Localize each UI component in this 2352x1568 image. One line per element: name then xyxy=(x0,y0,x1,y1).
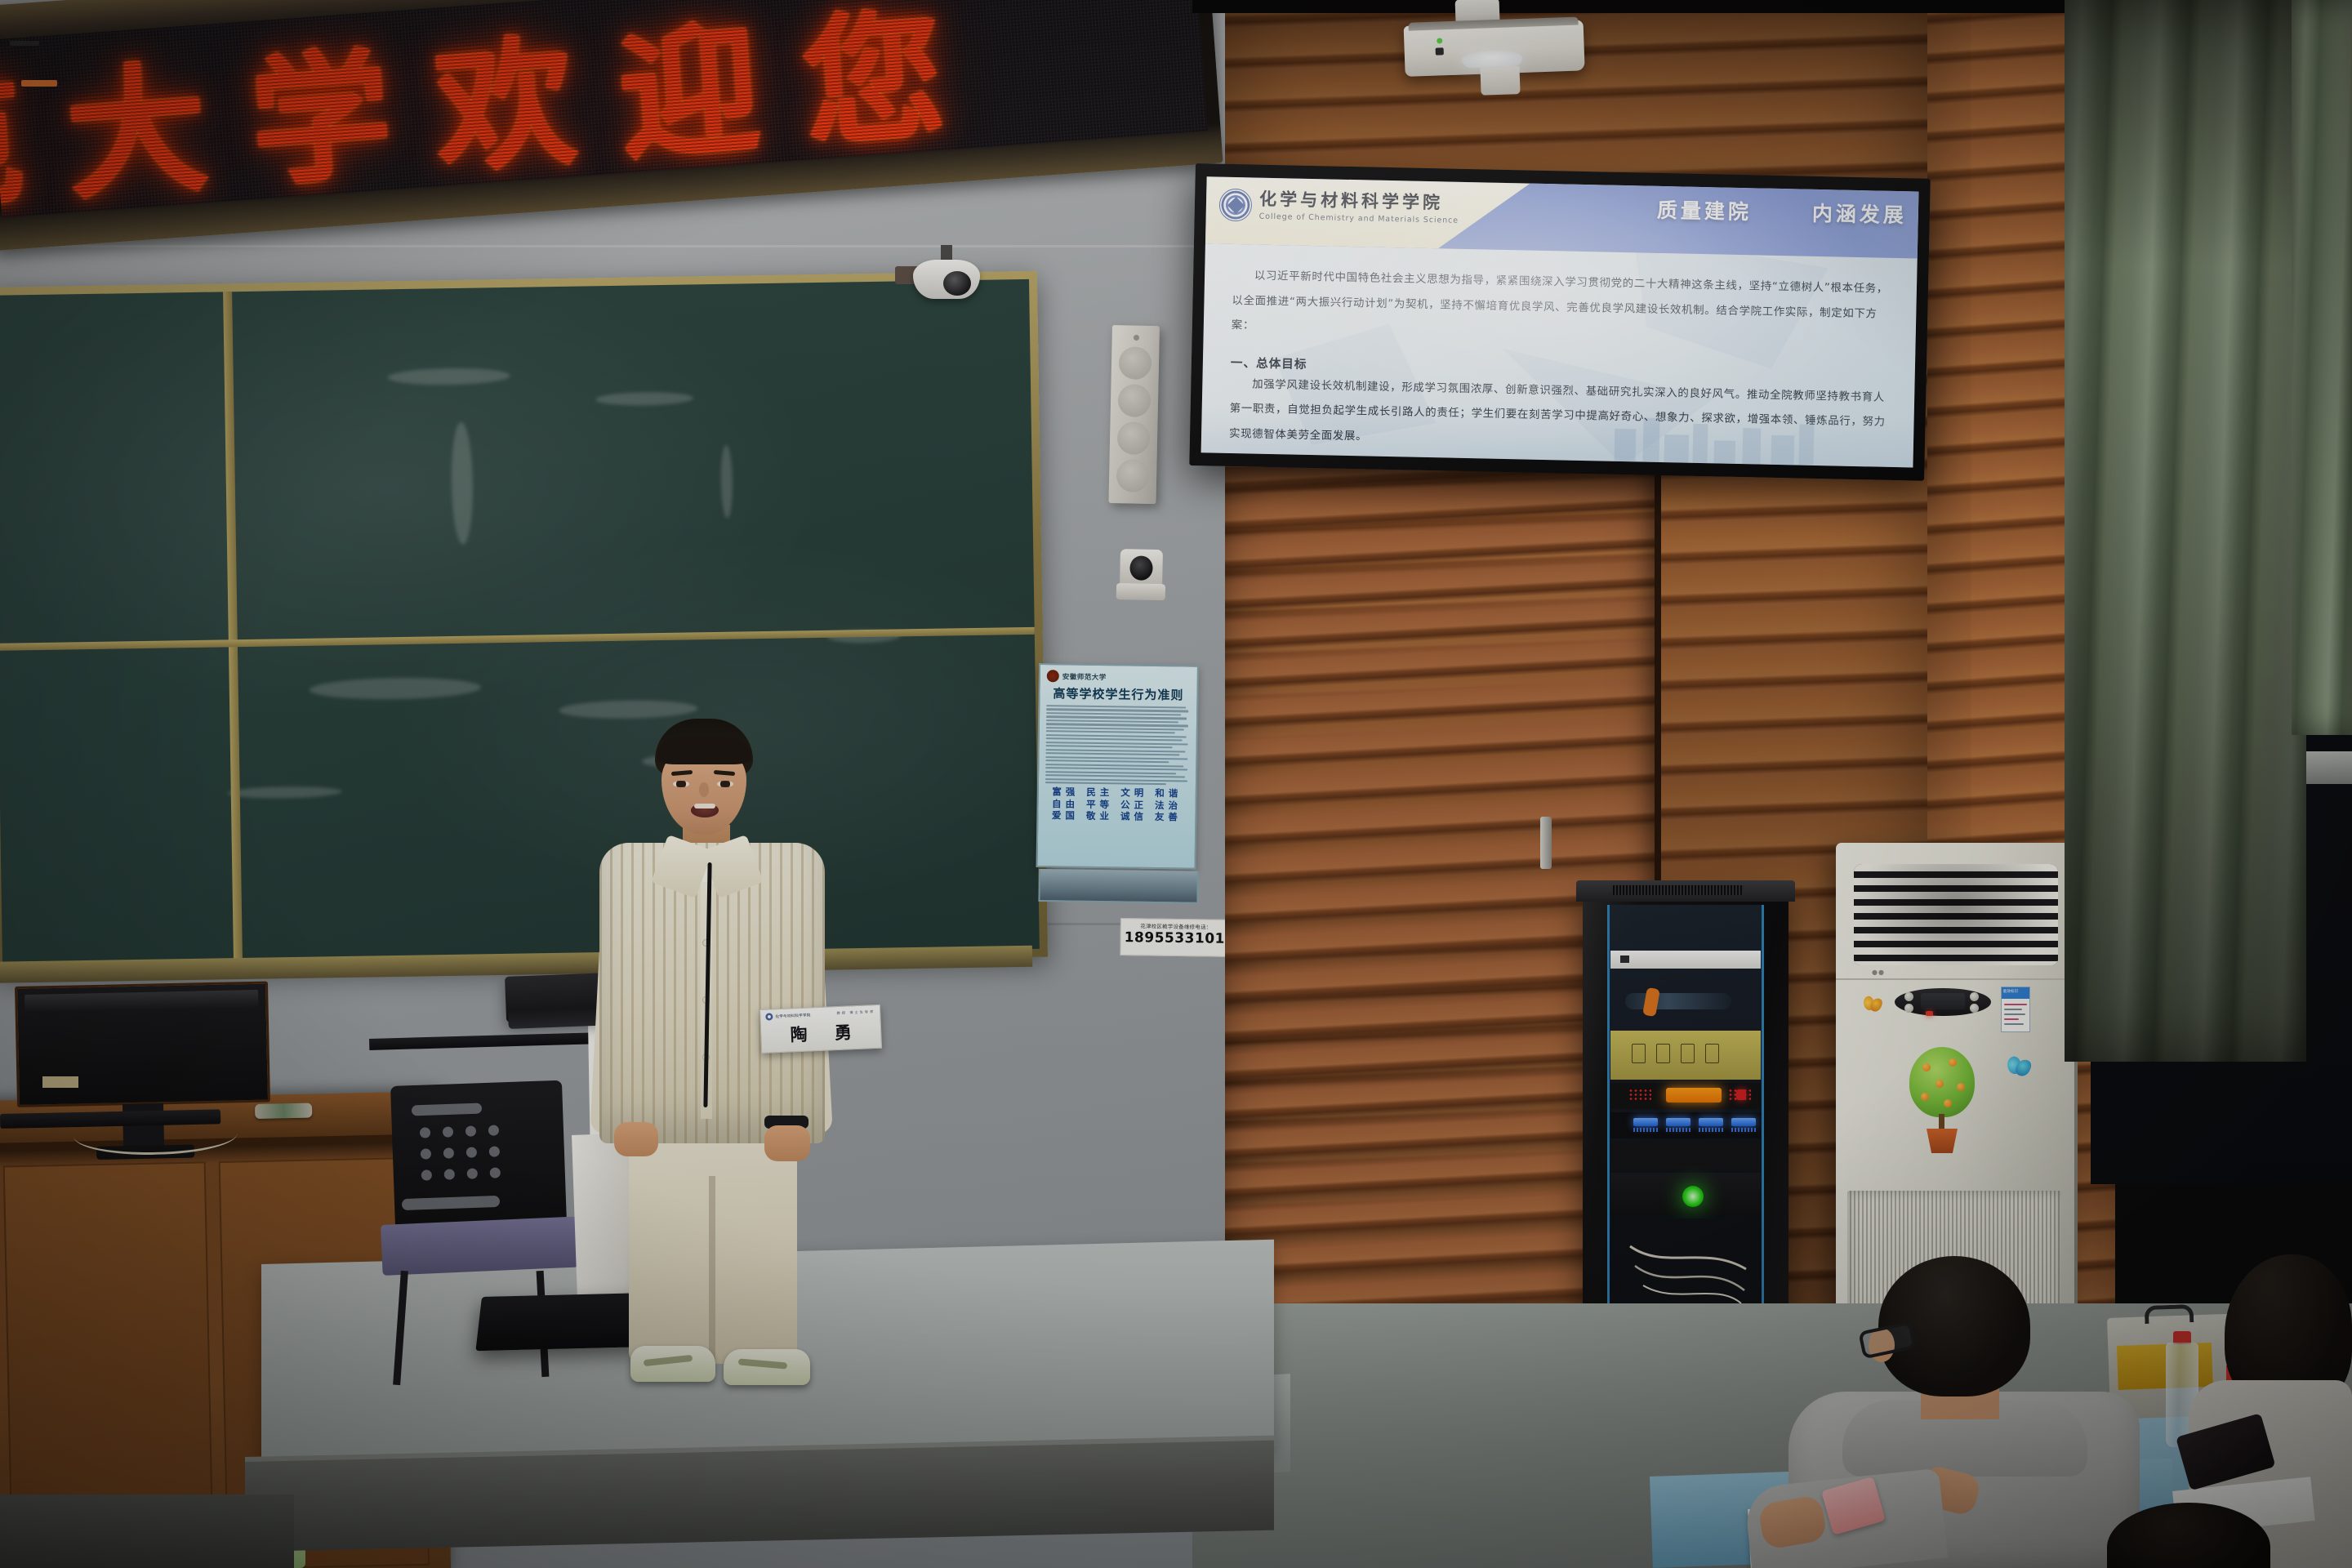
presenter-shoe xyxy=(724,1349,810,1385)
presenter-shirt xyxy=(599,843,825,1143)
slide-section-text: 加强学风建设长效机制建设，形成学习氛围浓厚、创新意识强烈、基础研究扎实深入的良好… xyxy=(1229,372,1891,461)
projection-screen-frame: 化学与材料科学学院 College of Chemistry and Mater… xyxy=(1189,163,1931,481)
ac-button[interactable] xyxy=(1970,1004,1979,1013)
vu-meter xyxy=(1731,1118,1756,1126)
panel-icon xyxy=(1705,1044,1719,1063)
poster-body-lines xyxy=(1045,705,1190,786)
slide-keyword: 内涵发展 xyxy=(1812,198,1908,229)
ac-brand-mark: ●● xyxy=(1872,969,1885,976)
ac-energy-label: 能效标识 xyxy=(2001,987,2030,1032)
vu-meter xyxy=(1633,1118,1658,1126)
core-socialist-values: 富强 民主 文明 和谐 自由 平等 公正 法治 爱国 敬业 诚信 友善 xyxy=(1045,786,1189,823)
presenter-hair-fringe xyxy=(657,737,751,764)
presenter-hand xyxy=(614,1122,658,1156)
poster-university-name: 安徽师范大学 xyxy=(1062,671,1107,682)
ptz-recording-camera xyxy=(1116,549,1166,610)
presenter-hand xyxy=(764,1125,810,1161)
panel-icon xyxy=(1632,1044,1646,1063)
presenter-teeth xyxy=(694,804,715,808)
presenter-shoe xyxy=(630,1346,715,1382)
cable-bundle xyxy=(1625,993,1731,1009)
slide-body: 以习近平新时代中国特色社会主义思想为指导，紧紧围绕深入学习贯彻党的二十大精神这条… xyxy=(1201,243,1918,461)
student-conduct-poster: 安徽师范大学 高等学校学生行为准则 富强 民主 文明 和谐 自由 平等 公正 法… xyxy=(1036,663,1199,870)
ac-air-outlet-grille xyxy=(1854,864,2058,965)
slide-paragraph: 以习近平新时代中国特色社会主义思想为指导，紧紧围绕深入学习贯彻党的二十大精神这条… xyxy=(1232,264,1893,353)
dome-camera-lens xyxy=(943,271,971,296)
desk-object xyxy=(255,1103,312,1119)
ac-body-seam xyxy=(1836,978,2074,980)
presenter-nameplate: 化学与材料科学学院 教授 博士生导师 陶 勇 xyxy=(759,1004,882,1053)
college-name-cn: 化学与材料科学学院 xyxy=(1259,190,1459,212)
vu-meter xyxy=(1666,1118,1690,1126)
college-seal-icon xyxy=(765,1013,773,1020)
maintenance-phone-label: 花津校区教学设备维修电话： 18955331011 xyxy=(1120,918,1232,957)
poster-university-header: 安徽师范大学 xyxy=(1047,670,1191,684)
trouser-crease xyxy=(709,1176,715,1364)
slide-college-logo: 化学与材料科学学院 College of Chemistry and Mater… xyxy=(1219,189,1459,226)
ac-grille-shading xyxy=(1854,864,2058,965)
university-seal-icon xyxy=(1047,670,1059,682)
floor-foreground xyxy=(0,1494,294,1568)
chair-seat-cushion[interactable] xyxy=(381,1217,578,1276)
nameplate-org: 化学与材料科学学院 xyxy=(775,1013,810,1019)
blackboard-divider xyxy=(223,292,243,961)
controller-lcd-display xyxy=(1666,1088,1722,1102)
ac-status-led xyxy=(1926,1011,1933,1016)
flower-pot xyxy=(1927,1129,1958,1153)
college-seal-icon xyxy=(1219,189,1253,222)
presenter-nose xyxy=(699,782,709,797)
ac-energy-label-title: 能效标识 xyxy=(2003,989,2018,994)
wire-paths xyxy=(1627,1241,1749,1307)
vu-meter-scale xyxy=(1633,1128,1658,1132)
rack-vents xyxy=(1613,885,1744,895)
speaker-indicator xyxy=(1134,335,1139,341)
vu-meter-scale xyxy=(1666,1128,1690,1132)
ac-button[interactable] xyxy=(1904,992,1913,1001)
projector-bracket xyxy=(1480,66,1520,96)
slide-header-keywords: 质量建院 内涵发展 xyxy=(1657,194,1908,229)
rack-unit-patch-panel xyxy=(1610,951,1761,969)
projection-screen: 化学与材料科学学院 College of Chemistry and Mater… xyxy=(1201,176,1919,467)
patch-panel-port-icon xyxy=(1620,955,1629,963)
wall-tile-seam xyxy=(0,245,1225,247)
vu-meter-scale xyxy=(1731,1128,1756,1132)
window-curtain xyxy=(2292,0,2352,735)
projector-ir-sensor-icon xyxy=(1436,47,1444,55)
ptz-camera-base xyxy=(1116,583,1165,600)
ac-button[interactable] xyxy=(1970,992,1979,1001)
amplifier-power-led xyxy=(1682,1186,1704,1207)
projector-lens-icon xyxy=(1462,50,1523,69)
orange-tree-sticker xyxy=(1903,1047,1981,1153)
monitor-asset-label xyxy=(42,1076,78,1088)
panel-icon xyxy=(1656,1044,1670,1063)
loose-wires xyxy=(1627,1241,1749,1307)
curtain-shading xyxy=(2065,0,2306,1062)
panel-icon xyxy=(1681,1044,1695,1063)
yellow-panel-icons xyxy=(1632,1044,1719,1063)
lecture-hall-scene: 范大学欢迎您 xyxy=(0,0,2352,1568)
poster-campus-photo xyxy=(1038,869,1199,904)
vu-meter-scale xyxy=(1699,1128,1723,1132)
controller-power-led xyxy=(1736,1089,1746,1100)
vu-meter xyxy=(1699,1118,1723,1126)
ceiling-projector xyxy=(1403,5,1590,90)
values-row: 爱国 敬业 诚信 友善 xyxy=(1045,809,1188,823)
equipment-case-label xyxy=(2117,1343,2213,1390)
slide-keyword: 质量建院 xyxy=(1657,194,1753,225)
rack-blank-panel xyxy=(1610,1142,1761,1169)
ac-button[interactable] xyxy=(1904,1004,1913,1013)
flower-pot-rim xyxy=(21,80,57,87)
wall-column-speaker xyxy=(1108,325,1160,504)
nameplate-name: 陶 勇 xyxy=(766,1018,876,1048)
controller-keypad-icon[interactable] xyxy=(1628,1089,1651,1102)
equipment-case-handle[interactable] xyxy=(2145,1304,2194,1324)
blackboard-surface xyxy=(0,279,1040,965)
maintenance-phone-number: 18955331011 xyxy=(1125,929,1227,947)
poster-title: 高等学校学生行为准则 xyxy=(1046,684,1190,703)
ptz-camera-slot xyxy=(10,41,39,46)
ac-display-screen xyxy=(1921,993,1965,1009)
door-handle[interactable] xyxy=(1540,817,1552,869)
blackboard xyxy=(0,271,1048,973)
